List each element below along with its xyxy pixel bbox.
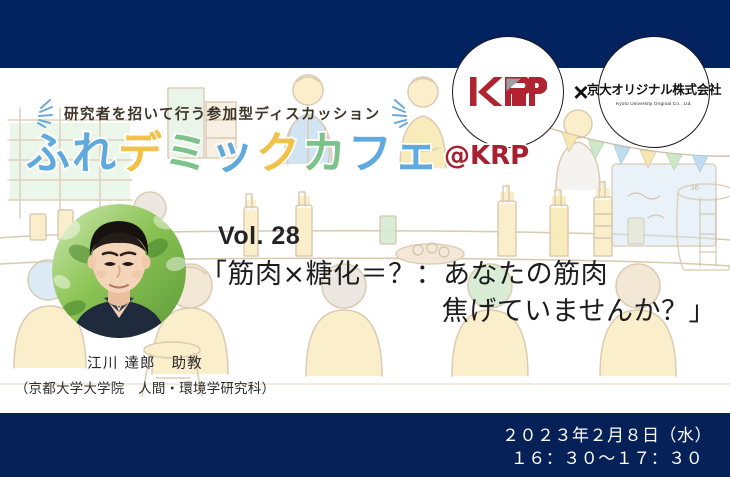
speaker-info: 江川 達郎 助教 （京都大学大学院 人間・環境学研究科） <box>0 352 290 397</box>
speaker-name: 江川 達郎 助教 <box>0 352 290 373</box>
title-char: デ <box>118 128 164 179</box>
poster-canvas: .ln { fill:none; stroke:#d9c9ae; stroke-… <box>0 0 730 477</box>
krp-logo-icon <box>469 75 547 109</box>
title-char: ェ <box>394 128 440 179</box>
speaker-portrait <box>52 204 186 338</box>
speaker-affiliation: （京都大学大学院 人間・環境学研究科） <box>0 377 290 397</box>
event-time: １６：３０〜１７：３０ <box>502 448 712 471</box>
event-date: ２０２３年２月８日（水） <box>502 425 712 448</box>
tagline-text: 研究者を招いて行う参加型ディスカッション <box>64 103 381 124</box>
title-char: フ <box>348 128 394 179</box>
volume-label: Vol. 28 <box>218 222 300 251</box>
kuo-logo-en-name: Kyoto University Original Co., Ltd. <box>616 101 692 106</box>
subject-line-2: 焦げていませんか？」 <box>442 289 716 328</box>
title-char: れ <box>72 128 118 179</box>
sparkle-rays-icon <box>391 98 419 128</box>
svg-text:36: 36 <box>690 184 699 192</box>
title-char: ク <box>256 128 302 179</box>
tagline: 研究者を招いて行う参加型ディスカッション <box>26 98 419 128</box>
title-char: ッ <box>210 128 256 179</box>
title-char: カ <box>302 128 348 179</box>
subject-line-1: 「筋肉×糖化＝？：あなたの筋肉 <box>200 252 608 291</box>
title-char: ミ <box>164 128 210 179</box>
sparkle-rays-icon <box>26 98 54 128</box>
schedule-info: ２０２３年２月８日（水） １６：３０〜１７：３０ <box>502 425 712 471</box>
kuo-logo-jp-name: 京大オリジナル株式会社 <box>587 79 721 98</box>
title-char: ふ <box>26 128 72 179</box>
event-title: ふれデミックカフェ@KRP <box>26 132 529 176</box>
kyoto-university-original-logo: 京大オリジナル株式会社 Kyoto University Original Co… <box>598 36 710 148</box>
title-suffix-krp: @KRP <box>444 141 529 171</box>
